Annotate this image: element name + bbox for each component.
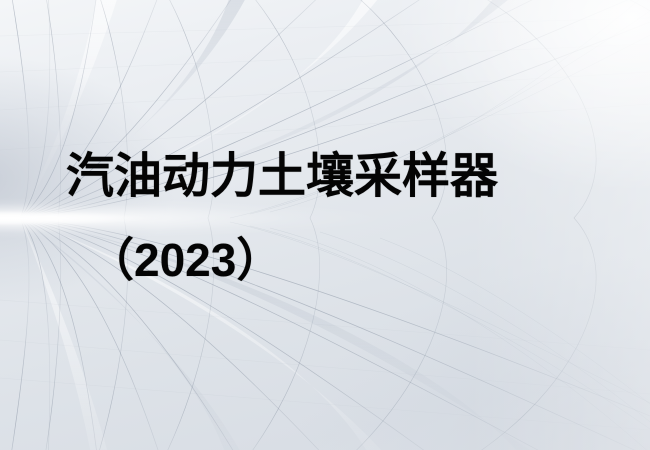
title-block: 汽油动力土壤采样器 （2023）	[0, 0, 650, 450]
product-title-main: 汽油动力土壤采样器	[66, 153, 498, 201]
title-banner: 汽油动力土壤采样器 （2023）	[0, 0, 650, 450]
product-title-year: （2023）	[88, 237, 282, 283]
